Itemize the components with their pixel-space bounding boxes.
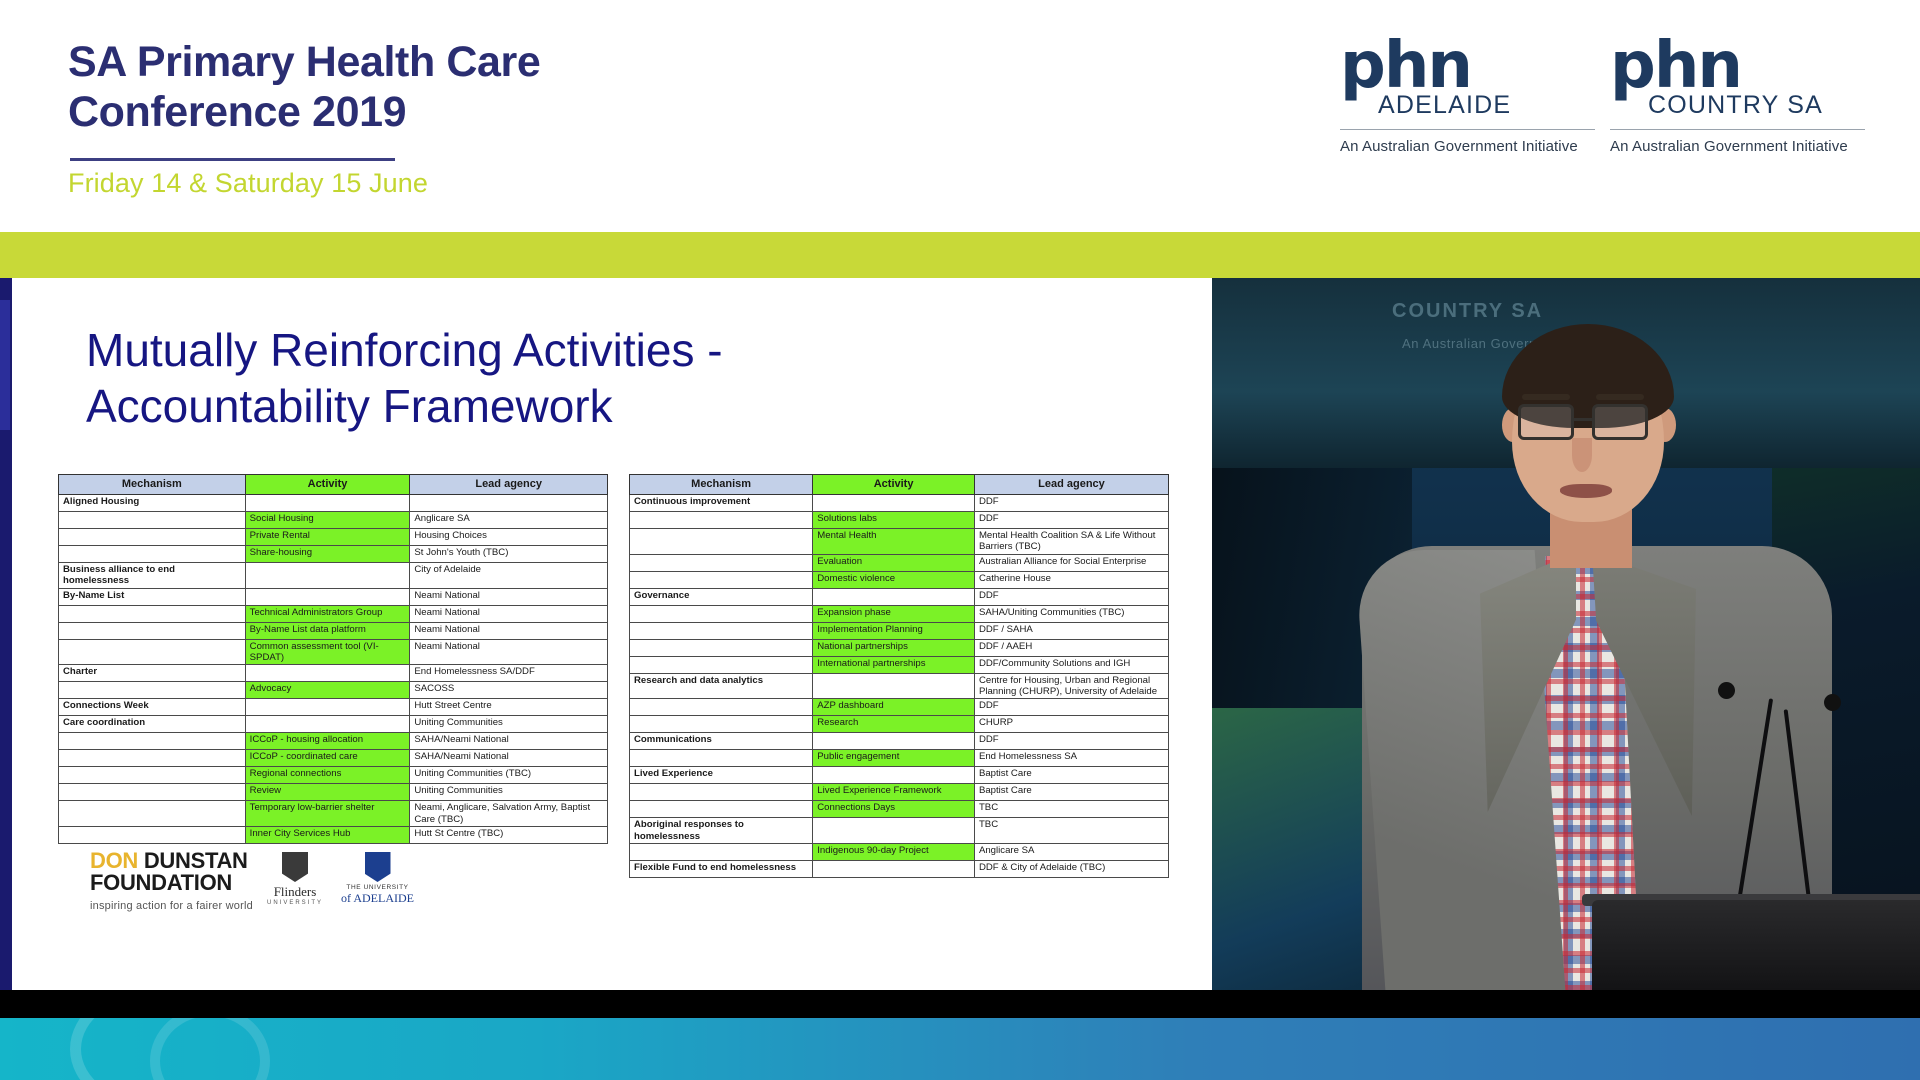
table-row: Governance DDF	[630, 588, 1169, 605]
cell-lead-agency: DDF	[974, 511, 1168, 528]
lectern	[1592, 900, 1920, 990]
cell-mechanism	[630, 716, 813, 733]
university-of-adelaide-logo: THE UNIVERSITY of ADELAIDE	[341, 852, 414, 906]
university-logos: Flinders UNIVERSITY THE UNIVERSITY of AD…	[267, 852, 414, 906]
cell-mechanism	[630, 843, 813, 860]
speaker-nose	[1572, 438, 1592, 472]
cell-activity: Social Housing	[245, 511, 410, 528]
cell-activity: Common assessment tool (VI-SPDAT)	[245, 639, 410, 665]
cell-lead-agency: Hutt St Centre (TBC)	[410, 826, 608, 843]
cell-mechanism: Care coordination	[59, 716, 246, 733]
table-row: EvaluationAustralian Alliance for Social…	[630, 554, 1169, 571]
column-header-mechanism: Mechanism	[59, 475, 246, 495]
table-row: Expansion phaseSAHA/Uniting Communities …	[630, 605, 1169, 622]
lime-accent-band	[0, 232, 1920, 278]
slide-title-line-1: Mutually Reinforcing Activities -	[86, 322, 1086, 378]
cell-lead-agency: St John's Youth (TBC)	[410, 545, 608, 562]
cell-activity: By-Name List data platform	[245, 622, 410, 639]
cell-mechanism: Lived Experience	[630, 767, 813, 784]
column-header-activity: Activity	[813, 475, 975, 495]
cell-activity: Indigenous 90-day Project	[813, 843, 975, 860]
cell-lead-agency: SACOSS	[410, 682, 608, 699]
table-row: By-Name List data platformNeami National	[59, 622, 608, 639]
cell-lead-agency: SAHA/Neami National	[410, 750, 608, 767]
cell-activity: Mental Health	[813, 528, 975, 554]
cell-mechanism: Aligned Housing	[59, 494, 246, 511]
table-row: ICCoP - coordinated careSAHA/Neami Natio…	[59, 750, 608, 767]
cell-activity	[813, 767, 975, 784]
cell-lead-agency: CHURP	[974, 716, 1168, 733]
adelaide-crest-icon	[365, 852, 391, 882]
conference-header: SA Primary Health Care Conference 2019 F…	[0, 0, 1920, 232]
left-table-body: Aligned Housing Social HousingAnglicare …	[59, 494, 608, 843]
table-row: Solutions labsDDF	[630, 511, 1169, 528]
cell-activity	[813, 733, 975, 750]
cell-lead-agency: SAHA/Neami National	[410, 733, 608, 750]
cell-lead-agency: Catherine House	[974, 571, 1168, 588]
adelaide-line-1: THE UNIVERSITY	[341, 884, 414, 891]
table-row: Temporary low-barrier shelterNeami, Angl…	[59, 801, 608, 827]
cell-mechanism	[630, 554, 813, 571]
table-row: Flexible Fund to end homelessness DDF & …	[630, 860, 1169, 877]
cell-mechanism	[630, 750, 813, 767]
cell-mechanism: Continuous improvement	[630, 494, 813, 511]
speaker-eyebrow-left	[1522, 394, 1570, 400]
background-screen-title: COUNTRY SA	[1392, 300, 1543, 323]
table-row: Private RentalHousing Choices	[59, 528, 608, 545]
cell-mechanism	[59, 784, 246, 801]
table-row: Public engagementEnd Homelessness SA	[630, 750, 1169, 767]
adelaide-line-2: of ADELAIDE	[341, 891, 414, 906]
cell-lead-agency: TBC	[974, 818, 1168, 844]
cell-activity	[813, 860, 975, 877]
cell-activity: Public engagement	[813, 750, 975, 767]
cell-lead-agency: Housing Choices	[410, 528, 608, 545]
table-row: By-Name List Neami National	[59, 588, 608, 605]
phn-divider	[1340, 129, 1595, 130]
cell-lead-agency: DDF	[974, 699, 1168, 716]
cell-activity: Implementation Planning	[813, 622, 975, 639]
table-row: AZP dashboardDDF	[630, 699, 1169, 716]
cell-mechanism	[630, 571, 813, 588]
table-row: Implementation PlanningDDF / SAHA	[630, 622, 1169, 639]
cell-activity: Technical Administrators Group	[245, 605, 410, 622]
table-row: Business alliance to end homelessness Ci…	[59, 562, 608, 588]
cell-mechanism	[630, 699, 813, 716]
cell-lead-agency: Uniting Communities (TBC)	[410, 767, 608, 784]
cell-mechanism	[630, 605, 813, 622]
cell-lead-agency: DDF	[974, 733, 1168, 750]
cell-lead-agency: Neami National	[410, 588, 608, 605]
cell-mechanism	[630, 784, 813, 801]
column-header-mechanism: Mechanism	[630, 475, 813, 495]
cell-mechanism	[59, 639, 246, 665]
table-header-row: Mechanism Activity Lead agency	[630, 475, 1169, 495]
flinders-crest-icon	[282, 852, 308, 882]
phn-adelaide-logo: phn ADELAIDE An Australian Government In…	[1340, 36, 1595, 155]
cell-lead-agency: Uniting Communities	[410, 716, 608, 733]
cell-mechanism	[59, 622, 246, 639]
cell-mechanism	[630, 639, 813, 656]
page-title: SA Primary Health Care Conference 2019	[68, 38, 540, 138]
cell-mechanism	[630, 528, 813, 554]
table-row: Social HousingAnglicare SA	[59, 511, 608, 528]
phn-region-label: COUNTRY SA	[1648, 91, 1865, 120]
cell-lead-agency: Neami National	[410, 622, 608, 639]
table-row: Lived Experience FrameworkBaptist Care	[630, 784, 1169, 801]
flinders-university-logo: Flinders UNIVERSITY	[267, 852, 323, 906]
phn-region-label: ADELAIDE	[1378, 91, 1595, 120]
presentation-slide: Mutually Reinforcing Activities - Accoun…	[12, 278, 1212, 990]
accountability-table-right: Mechanism Activity Lead agency Continuou…	[629, 474, 1169, 878]
cell-lead-agency: DDF/Community Solutions and IGH	[974, 656, 1168, 673]
cell-activity: Share-housing	[245, 545, 410, 562]
phn-wordmark: phn	[1610, 36, 1865, 97]
microphone-head-left	[1718, 682, 1735, 699]
table-row: ReviewUniting Communities	[59, 784, 608, 801]
cell-lead-agency: Neami, Anglicare, Salvation Army, Baptis…	[410, 801, 608, 827]
cell-mechanism	[59, 826, 246, 843]
table-row: Mental HealthMental Health Coalition SA …	[630, 528, 1169, 554]
cell-activity	[245, 494, 410, 511]
table-row: Connections DaysTBC	[630, 801, 1169, 818]
cell-activity: Connections Days	[813, 801, 975, 818]
cell-activity	[245, 716, 410, 733]
cell-activity	[245, 588, 410, 605]
title-line-1: SA Primary Health Care	[68, 38, 540, 88]
table-row: AdvocacySACOSS	[59, 682, 608, 699]
cell-lead-agency: Baptist Care	[974, 784, 1168, 801]
cell-mechanism	[59, 511, 246, 528]
cell-activity: Lived Experience Framework	[813, 784, 975, 801]
cell-lead-agency: Hutt Street Centre	[410, 699, 608, 716]
left-blue-edge-accent	[0, 300, 10, 430]
flinders-name: Flinders	[267, 884, 323, 900]
phn-country-sa-logo: phn COUNTRY SA An Australian Government …	[1610, 36, 1865, 155]
cell-mechanism	[59, 605, 246, 622]
cell-mechanism: Connections Week	[59, 699, 246, 716]
title-line-2: Conference 2019	[68, 88, 540, 138]
table-row: Indigenous 90-day ProjectAnglicare SA	[630, 843, 1169, 860]
cell-activity: Inner City Services Hub	[245, 826, 410, 843]
cell-mechanism: By-Name List	[59, 588, 246, 605]
table-header-row: Mechanism Activity Lead agency	[59, 475, 608, 495]
flinders-sub: UNIVERSITY	[267, 900, 323, 906]
cell-mechanism	[630, 801, 813, 818]
table-row: Domestic violenceCatherine House	[630, 571, 1169, 588]
cell-activity: Solutions labs	[813, 511, 975, 528]
cell-lead-agency: End Homelessness SA	[974, 750, 1168, 767]
cell-activity	[813, 494, 975, 511]
table-row: ICCoP - housing allocationSAHA/Neami Nat…	[59, 733, 608, 750]
phn-tagline: An Australian Government Initiative	[1610, 138, 1865, 155]
speaker-glasses-left	[1518, 404, 1574, 440]
cell-lead-agency: Anglicare SA	[410, 511, 608, 528]
cell-activity	[813, 818, 975, 844]
column-header-lead-agency: Lead agency	[974, 475, 1168, 495]
speaker-glasses-right	[1592, 404, 1648, 440]
title-divider	[70, 158, 395, 161]
cell-lead-agency: End Homelessness SA/DDF	[410, 665, 608, 682]
right-table-body: Continuous improvement DDF Solutions lab…	[630, 494, 1169, 877]
cell-activity: Expansion phase	[813, 605, 975, 622]
cell-activity: Advocacy	[245, 682, 410, 699]
table-row: Continuous improvement DDF	[630, 494, 1169, 511]
speaker-eyebrow-right	[1596, 394, 1644, 400]
cell-activity: International partnerships	[813, 656, 975, 673]
cell-lead-agency: Anglicare SA	[974, 843, 1168, 860]
table-row: Technical Administrators GroupNeami Nati…	[59, 605, 608, 622]
phn-wordmark: phn	[1340, 36, 1595, 97]
cell-activity: AZP dashboard	[813, 699, 975, 716]
table-row: Share-housingSt John's Youth (TBC)	[59, 545, 608, 562]
cell-activity: Evaluation	[813, 554, 975, 571]
cell-activity	[245, 699, 410, 716]
cell-mechanism	[630, 656, 813, 673]
footer-band	[0, 1018, 1920, 1080]
table-row: Charter End Homelessness SA/DDF	[59, 665, 608, 682]
slide-bottom-black-strip	[0, 990, 1212, 1018]
column-header-activity: Activity	[245, 475, 410, 495]
column-header-lead-agency: Lead agency	[410, 475, 608, 495]
cell-activity: Temporary low-barrier shelter	[245, 801, 410, 827]
cell-mechanism: Governance	[630, 588, 813, 605]
cell-mechanism	[59, 750, 246, 767]
cell-activity: Private Rental	[245, 528, 410, 545]
speaker-video-feed: COUNTRY SA An Australian Government Init…	[1212, 278, 1920, 990]
cell-lead-agency: DDF & City of Adelaide (TBC)	[974, 860, 1168, 877]
table-row: Research and data analytics Centre for H…	[630, 673, 1169, 699]
table-row: Inner City Services HubHutt St Centre (T…	[59, 826, 608, 843]
ddf-don-text: DON	[90, 848, 144, 873]
table-row: National partnershipsDDF / AAEH	[630, 639, 1169, 656]
cell-mechanism	[630, 511, 813, 528]
phn-tagline: An Australian Government Initiative	[1340, 138, 1595, 155]
table-row: ResearchCHURP	[630, 716, 1169, 733]
table-row: Common assessment tool (VI-SPDAT)Neami N…	[59, 639, 608, 665]
cell-mechanism: Flexible Fund to end homelessness	[630, 860, 813, 877]
cell-lead-agency: DDF	[974, 588, 1168, 605]
cell-lead-agency: Centre for Housing, Urban and Regional P…	[974, 673, 1168, 699]
table-row: Aboriginal responses to homelessness TBC	[630, 818, 1169, 844]
cell-lead-agency: SAHA/Uniting Communities (TBC)	[974, 605, 1168, 622]
cell-activity: Domestic violence	[813, 571, 975, 588]
cell-activity	[813, 588, 975, 605]
cell-mechanism	[59, 682, 246, 699]
cell-activity: Research	[813, 716, 975, 733]
cell-lead-agency: Neami National	[410, 639, 608, 665]
cell-activity: National partnerships	[813, 639, 975, 656]
cell-lead-agency: Australian Alliance for Social Enterpris…	[974, 554, 1168, 571]
cell-activity: ICCoP - housing allocation	[245, 733, 410, 750]
cell-lead-agency	[410, 494, 608, 511]
table-row: Aligned Housing	[59, 494, 608, 511]
cell-mechanism	[59, 545, 246, 562]
cell-activity: ICCoP - coordinated care	[245, 750, 410, 767]
table-row: Care coordination Uniting Communities	[59, 716, 608, 733]
cell-lead-agency: Neami National	[410, 605, 608, 622]
cell-activity	[245, 665, 410, 682]
cell-mechanism: Aboriginal responses to homelessness	[630, 818, 813, 844]
cell-mechanism	[59, 767, 246, 784]
cell-mechanism: Research and data analytics	[630, 673, 813, 699]
slide-title-line-2: Accountability Framework	[86, 378, 1086, 434]
cell-lead-agency: Uniting Communities	[410, 784, 608, 801]
cell-lead-agency: DDF / AAEH	[974, 639, 1168, 656]
accountability-table-left: Mechanism Activity Lead agency Aligned H…	[58, 474, 608, 844]
cell-activity: Regional connections	[245, 767, 410, 784]
slide-title: Mutually Reinforcing Activities - Accoun…	[86, 322, 1086, 434]
cell-mechanism	[59, 733, 246, 750]
cell-mechanism: Charter	[59, 665, 246, 682]
cell-lead-agency: City of Adelaide	[410, 562, 608, 588]
cell-lead-agency: DDF / SAHA	[974, 622, 1168, 639]
ddf-dunstan-text: DUNSTAN	[144, 848, 248, 873]
cell-lead-agency: Baptist Care	[974, 767, 1168, 784]
phn-divider	[1610, 129, 1865, 130]
conference-dates: Friday 14 & Saturday 15 June	[68, 168, 428, 199]
cell-mechanism	[630, 622, 813, 639]
microphone-head-right	[1824, 694, 1841, 711]
cell-mechanism: Communications	[630, 733, 813, 750]
cell-lead-agency: TBC	[974, 801, 1168, 818]
table-row: Communications DDF	[630, 733, 1169, 750]
speaker-mouth	[1560, 484, 1612, 498]
cell-lead-agency: DDF	[974, 494, 1168, 511]
table-row: Lived Experience Baptist Care	[630, 767, 1169, 784]
speaker-glasses-bridge	[1574, 418, 1592, 421]
table-row: Regional connectionsUniting Communities …	[59, 767, 608, 784]
footer-swirl-icon-secondary	[150, 1018, 270, 1080]
cell-mechanism	[59, 528, 246, 545]
cell-activity	[245, 562, 410, 588]
cell-activity	[813, 673, 975, 699]
cell-activity: Review	[245, 784, 410, 801]
cell-mechanism: Business alliance to end homelessness	[59, 562, 246, 588]
table-row: Connections Week Hutt Street Centre	[59, 699, 608, 716]
cell-lead-agency: Mental Health Coalition SA & Life Withou…	[974, 528, 1168, 554]
cell-mechanism	[59, 801, 246, 827]
table-row: International partnershipsDDF/Community …	[630, 656, 1169, 673]
